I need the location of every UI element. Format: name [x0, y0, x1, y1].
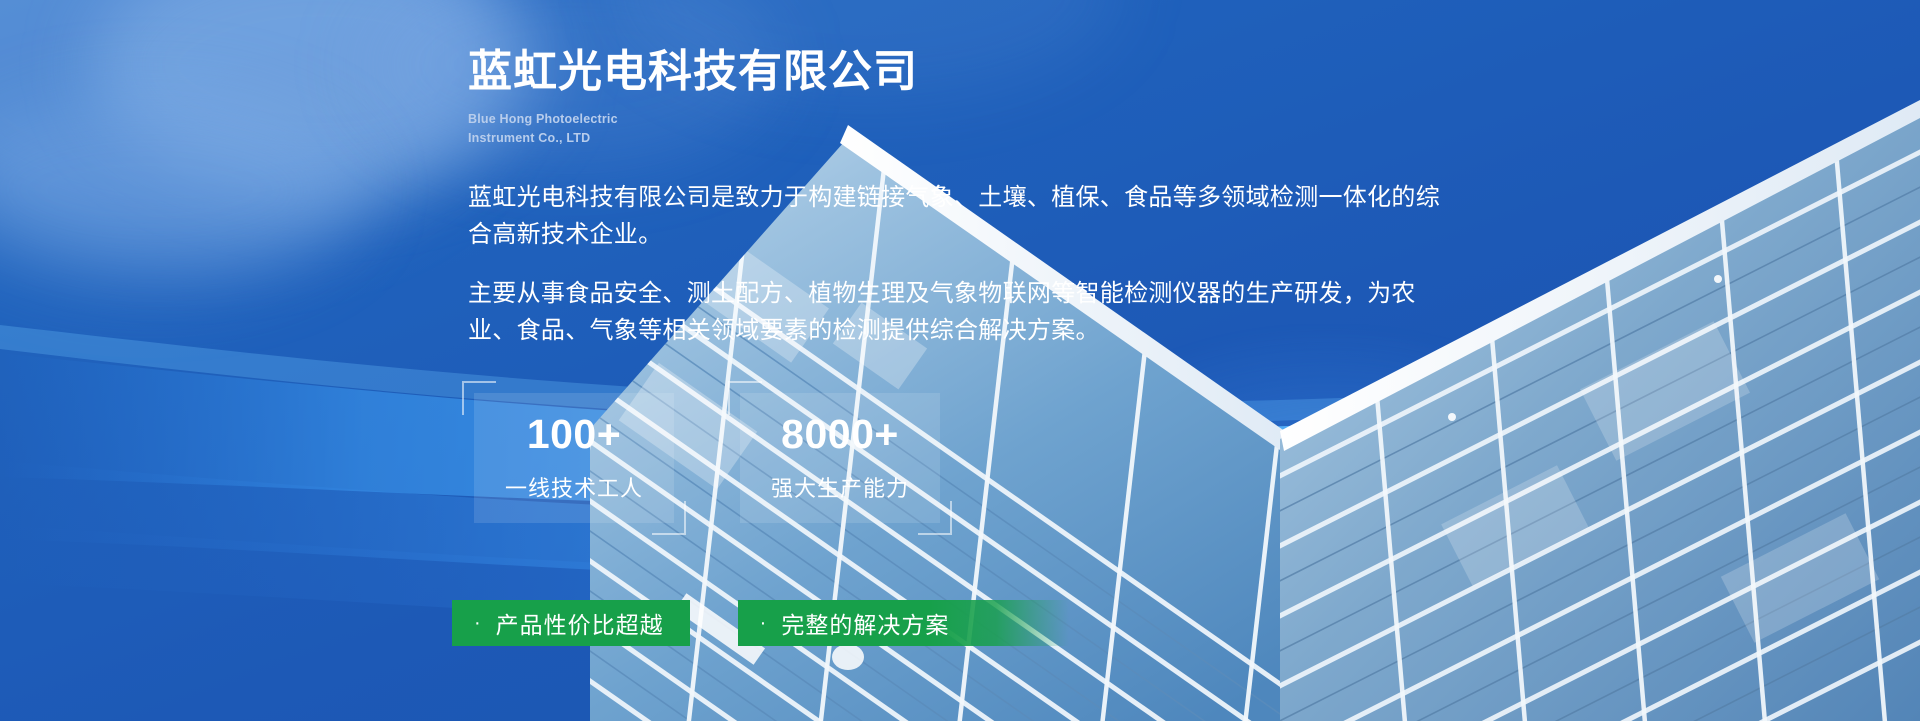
- page-title: 蓝虹光电科技有限公司: [468, 0, 1548, 96]
- stat-label: 一线技术工人: [505, 455, 643, 503]
- stat-label: 强大生产能力: [771, 455, 909, 503]
- cloud-wisp-icon: [0, 0, 500, 250]
- statistics-group: 100+ 一线技术工人 8000+ 强大生产能力: [468, 349, 1548, 523]
- hero-content: 蓝虹光电科技有限公司 Blue Hong Photoelectric Instr…: [468, 0, 1548, 523]
- stat-number: 100+: [527, 414, 621, 455]
- feature-tag-value: · 产品性价比超越: [452, 600, 690, 646]
- cloud-wisp-icon: [0, 90, 360, 290]
- company-subtitle-line-1: Blue Hong Photoelectric: [468, 110, 1548, 128]
- description-paragraph-1: 蓝虹光电科技有限公司是致力于构建链接气象、土壤、植保、食品等多领域检测一体化的综…: [468, 147, 1453, 253]
- stat-card-workers: 100+ 一线技术工人: [474, 393, 674, 523]
- company-subtitle: Blue Hong Photoelectric Instrument Co., …: [468, 96, 1548, 146]
- stat-number: 8000+: [781, 414, 899, 455]
- bullet-icon: ·: [760, 613, 768, 633]
- feature-tag-group: · 产品性价比超越 · 完整的解决方案: [452, 600, 1069, 646]
- hero-banner: 蓝虹光电科技有限公司 Blue Hong Photoelectric Instr…: [0, 0, 1920, 721]
- company-subtitle-line-2: Instrument Co., LTD: [468, 129, 1548, 147]
- description-paragraph-2: 主要从事食品安全、测土配方、植物生理及气象物联网等智能检测仪器的生产研发，为农业…: [468, 253, 1453, 349]
- feature-tag-label: 产品性价比超越: [496, 606, 664, 640]
- feature-tag-solution: · 完整的解决方案: [738, 600, 1070, 646]
- stat-card-capacity: 8000+ 强大生产能力: [740, 393, 940, 523]
- feature-tag-label: 完整的解决方案: [781, 606, 949, 640]
- bullet-icon: ·: [474, 613, 482, 633]
